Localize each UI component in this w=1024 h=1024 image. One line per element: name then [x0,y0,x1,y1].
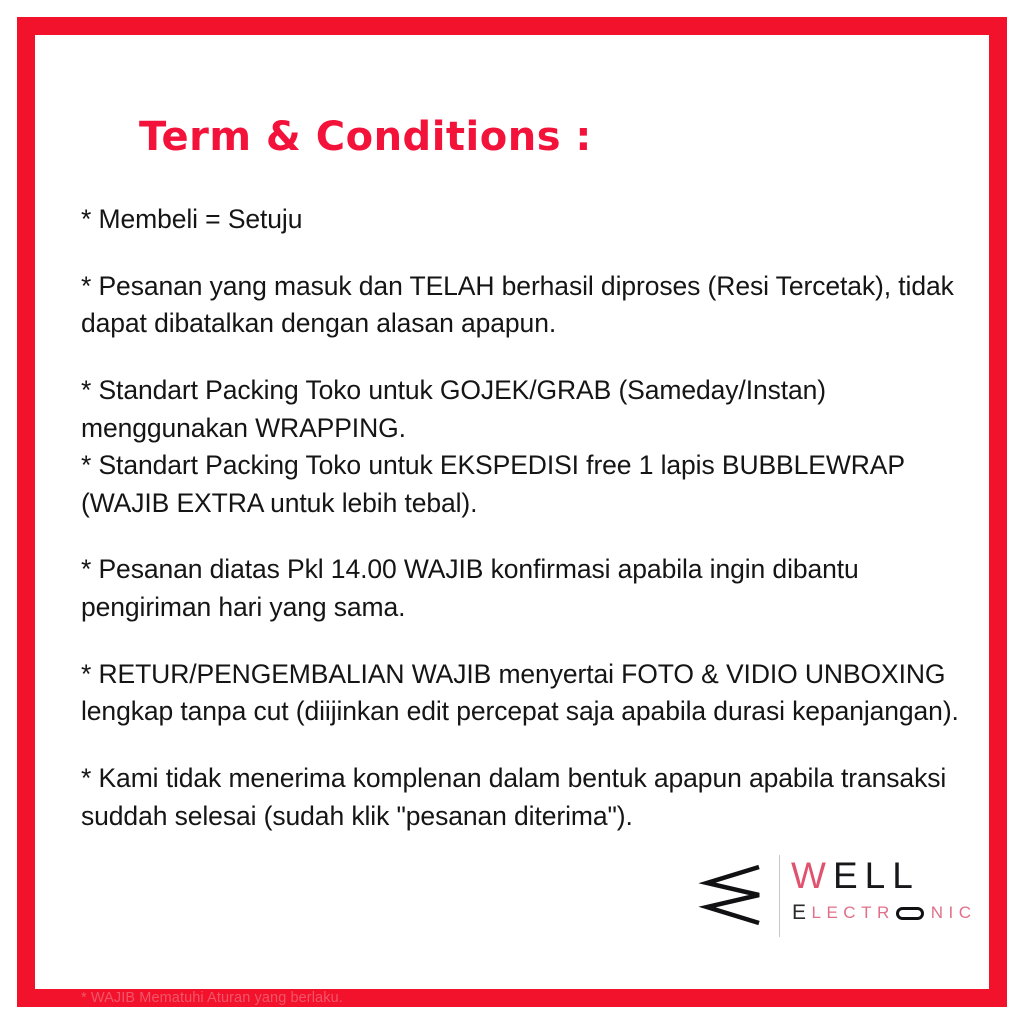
footnote-text: * WAJIB Mematuhi Aturan yang berlaku. [81,990,343,1006]
term-item-membeli-setuju: * Membeli = Setuju [81,201,1006,239]
term-line: (WAJIB EXTRA untuk lebih tebal). [81,485,1006,523]
logo-letter-e: E [792,902,812,923]
term-item-komplenan: * Kami tidak menerima komplenan dalam be… [81,760,1006,835]
term-line: * RETUR/PENGEMBALIAN WAJIB menyertai FOT… [81,656,1006,694]
zigzag-w-mark-icon [697,861,767,931]
term-item-pesanan-telah-diproses: * Pesanan yang masuk dan TELAH berhasil … [81,268,1006,343]
logo-divider [779,855,780,937]
term-line: * Pesanan yang masuk dan TELAH berhasil … [81,268,1006,306]
term-line: pengiriman hari yang sama. [81,589,1006,627]
term-line: menggunakan WRAPPING. [81,410,1006,448]
logo-electronic-text: ELECTRNIC [792,902,977,923]
logo-letters-nic: NIC [931,904,977,921]
logo-well-text: WELL [791,857,920,894]
term-line: * Kami tidak menerima komplenan dalam be… [81,760,1006,798]
logo-letters-ell: ELL [833,855,920,896]
term-line: * Membeli = Setuju [81,201,1006,239]
term-line: * Pesanan diatas Pkl 14.00 WAJIB konfirm… [81,551,1006,589]
term-item-standart-packing: * Standart Packing Toko untuk GOJEK/GRAB… [81,372,1006,523]
terms-and-conditions-image: Term & Conditions : * Membeli = Setuju *… [0,0,1024,1024]
term-item-pesanan-diatas-pkl-14: * Pesanan diatas Pkl 14.00 WAJIB konfirm… [81,551,1006,626]
term-line: * Standart Packing Toko untuk GOJEK/GRAB… [81,372,1006,410]
logo-letter-w: W [791,855,833,896]
red-border-frame: Term & Conditions : * Membeli = Setuju *… [17,17,1007,1007]
brand-logo: WELL ELECTRNIC [691,855,937,937]
logo-o-pill-icon [896,907,924,920]
term-line: suddah selesai (sudah klik "pesanan dite… [81,798,1006,836]
page-title: Term & Conditions : [139,95,1011,159]
logo-wordmark: WELL ELECTRNIC [791,855,941,937]
logo-letters-lectr: LECTR [812,904,895,921]
term-line: * Standart Packing Toko untuk EKSPEDISI … [81,447,1006,485]
term-line: lengkap tanpa cut (diijinkan edit percep… [81,693,1006,731]
term-item-retur-pengembalian: * RETUR/PENGEMBALIAN WAJIB menyertai FOT… [81,656,1006,731]
term-line: dapat dibatalkan dengan alasan apapun. [81,305,1006,343]
